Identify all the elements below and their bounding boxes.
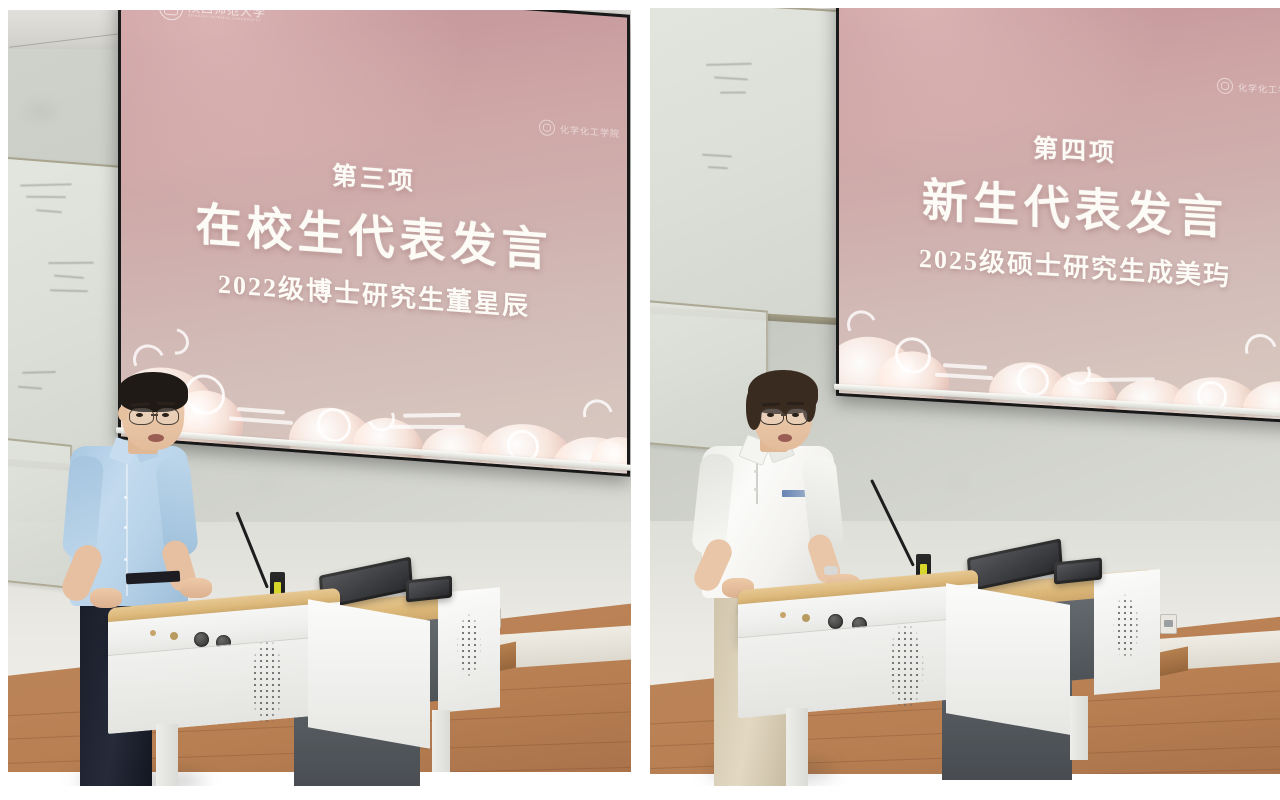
back-desk-speaker-grille bbox=[454, 606, 484, 686]
wall-mark bbox=[258, 480, 274, 490]
podium-speaker-grille-left bbox=[246, 628, 288, 736]
podium-knob bbox=[194, 632, 209, 647]
whiteboard-left-lower bbox=[8, 435, 72, 589]
speaker-hand-left bbox=[90, 588, 122, 608]
photo-panel-right: 陕西师范大学 SHAANXI NORMAL UNIVERSITY 化学化工学院 … bbox=[650, 8, 1280, 786]
podium-side-right bbox=[946, 583, 1070, 735]
speaker-hair-left bbox=[118, 372, 188, 412]
projection-screen-left: 陕西师范大学 SHAANXI NORMAL UNIVERSITY 化学化工学院 … bbox=[118, 10, 630, 477]
lecture-room-right: 陕西师范大学 SHAANXI NORMAL UNIVERSITY 化学化工学院 … bbox=[650, 8, 1280, 786]
whiteboard-right-lower bbox=[650, 297, 768, 454]
podium-speaker-grille-right bbox=[884, 612, 928, 722]
whiteboard-right bbox=[650, 8, 858, 321]
slide-surface-left: 陕西师范大学 SHAANXI NORMAL UNIVERSITY 化学化工学院 … bbox=[121, 10, 627, 474]
collage-stage: 陕西师范大学 SHAANXI NORMAL UNIVERSITY 化学化工学院 … bbox=[0, 0, 1280, 800]
wall-mark bbox=[28, 105, 54, 117]
college-logo-left: 化学化工学院 bbox=[539, 119, 620, 141]
slide-text-block-right: 第四项 新生代表发言 2025级硕士研究生成美玙 bbox=[839, 117, 1280, 298]
power-outlet-right bbox=[1160, 614, 1177, 634]
back-desk-speaker-grille-right bbox=[1110, 586, 1142, 668]
projection-screen-right: 陕西师范大学 SHAANXI NORMAL UNIVERSITY 化学化工学院 … bbox=[836, 8, 1280, 424]
college-logo-right: 化学化工学院 bbox=[1217, 77, 1280, 98]
podium-indicator bbox=[150, 630, 156, 636]
photo-panel-left: 陕西师范大学 SHAANXI NORMAL UNIVERSITY 化学化工学院 … bbox=[8, 10, 631, 786]
podium-side-left bbox=[308, 599, 430, 749]
podium-leg-left bbox=[156, 724, 178, 786]
slide-surface-right: 陕西师范大学 SHAANXI NORMAL UNIVERSITY 化学化工学院 … bbox=[839, 8, 1280, 421]
podium-leg-right bbox=[786, 708, 808, 786]
college-name-cn: 化学化工学院 bbox=[1238, 80, 1280, 97]
speaker-hand-right bbox=[180, 578, 212, 598]
lecture-room-left: 陕西师范大学 SHAANXI NORMAL UNIVERSITY 化学化工学院 … bbox=[8, 10, 631, 786]
college-name-cn: 化学化工学院 bbox=[560, 122, 620, 139]
